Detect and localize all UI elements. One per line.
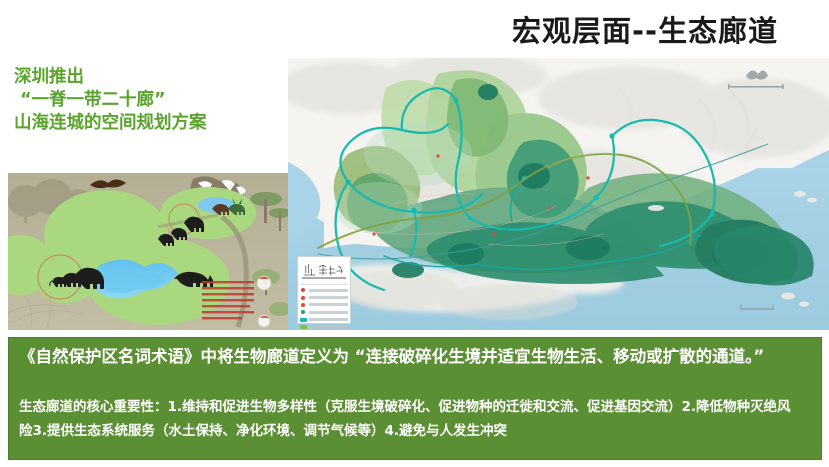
green-text-banner: 《自然保护区名词术语》中将生物廊道定义为 “连接破碎化生境并适宜生物生活、移动或… [8, 337, 822, 460]
left-heading-line-1: 深圳推出 [14, 66, 282, 89]
legend-item [300, 294, 348, 300]
legend-label [309, 296, 348, 299]
legend-item [300, 302, 348, 308]
legend-swatch-corridor1-icon [301, 303, 305, 307]
left-heading-line-3: 山海连城的空间规划方案 [14, 112, 282, 135]
legend-swatch-node-icon [301, 288, 305, 292]
legend-swatch-main-spine-icon [300, 325, 307, 329]
shenzhen-ecological-corridor-map [288, 58, 829, 330]
legend-label [309, 311, 348, 314]
legend-item [300, 317, 348, 323]
legend-label [309, 326, 348, 329]
map-legend-rows [300, 285, 348, 330]
legend-item [300, 324, 348, 330]
illustration-canvas [8, 173, 289, 330]
legend-title-calligraphy-icon [300, 259, 348, 284]
slide-root: 宏观层面--生态廊道 深圳推出 “一脊一带二十廊” 山海连城的空间规划方案 [0, 0, 829, 467]
legend-label [309, 318, 348, 321]
left-heading: 深圳推出 “一脊一带二十廊” 山海连城的空间规划方案 [14, 66, 282, 135]
corridor-importance-line-2: 险3.提供生态系统服务（水土保持、净化环境、调节气候等）4.避免与人发生冲突 [19, 419, 811, 443]
wildlife-corridor-illustration [8, 173, 289, 330]
legend-label [309, 303, 348, 306]
legend-item [300, 309, 348, 315]
corridor-importance-text: 生态廊道的核心重要性：1.维持和促进生物多样性（克服生境破碎化、促进物种的迁徙和… [19, 395, 811, 443]
page-title: 宏观层面--生态廊道 [512, 8, 778, 50]
legend-swatch-patch-icon [301, 296, 305, 300]
legend-swatch-blue-green-ring-icon [300, 318, 307, 322]
corridor-definition-quote: 《自然保护区名词术语》中将生物廊道定义为 “连接破碎化生境并适宜生物生活、移动或… [19, 346, 813, 368]
map-legend [297, 256, 351, 324]
corridor-importance-line-1: 生态廊道的核心重要性：1.维持和促进生物多样性（克服生境破碎化、促进物种的迁徙和… [19, 395, 811, 419]
legend-swatch-corridor2-icon [301, 310, 305, 314]
legend-item [300, 287, 348, 293]
map-legend-title [300, 259, 348, 285]
left-heading-line-2: “一脊一带二十廊” [14, 89, 282, 112]
map-canvas [288, 58, 829, 330]
legend-label [309, 289, 348, 292]
